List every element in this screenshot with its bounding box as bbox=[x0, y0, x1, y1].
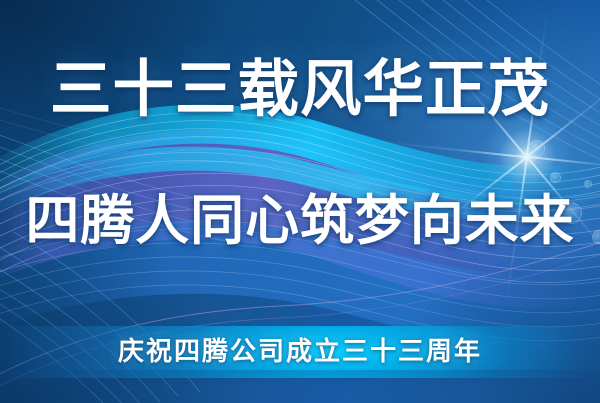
flare-ray bbox=[527, 156, 600, 173]
flare-ray bbox=[378, 141, 527, 158]
anniversary-poster: 三十三载风华正茂 四腾人同心筑梦向未来 庆祝四腾公司成立三十三周年 bbox=[0, 0, 600, 403]
headline-line-2: 四腾人同心筑梦向未来 bbox=[0, 191, 600, 251]
subtitle-text: 庆祝四腾公司成立三十三周年 bbox=[0, 332, 600, 372]
bokeh-circle bbox=[528, 140, 545, 157]
bokeh-circle bbox=[550, 172, 561, 183]
flare-core bbox=[482, 112, 572, 202]
headline-line-1: 三十三载风华正茂 bbox=[0, 56, 600, 125]
bokeh-circle bbox=[584, 180, 592, 188]
